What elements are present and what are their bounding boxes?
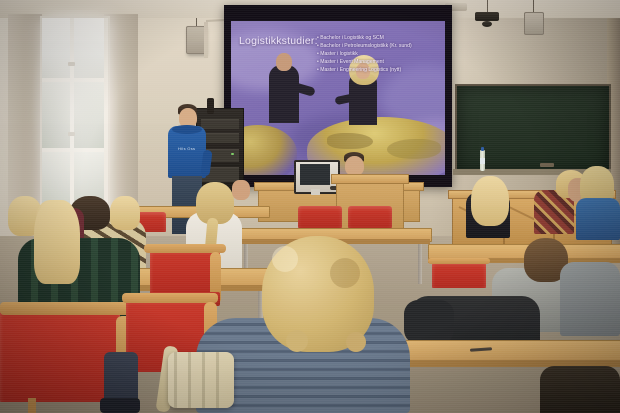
- lecture-room-photo: Logistikkstudier: • Bachelor i Logistikk…: [0, 0, 620, 413]
- student-far-right-body: [576, 198, 620, 240]
- window-pane: [42, 82, 70, 148]
- wall-conduit: [204, 22, 208, 58]
- hair-curl: [286, 330, 308, 352]
- chalkboard: [455, 84, 611, 174]
- slide-bullet: • Master i logistikk: [317, 50, 445, 58]
- chair-leg: [28, 398, 36, 413]
- chair-frame: [428, 258, 490, 264]
- seated-speaker-head: [345, 156, 364, 176]
- slide-bullet: • Master i Engineering Logistics (nytt): [317, 66, 445, 74]
- window-mullion: [70, 18, 74, 220]
- slide-bullet: • Master i Event Management: [317, 58, 445, 66]
- hair-shadow: [330, 258, 360, 288]
- hair-highlight: [272, 246, 298, 272]
- chalkboard-eraser: [540, 163, 554, 167]
- slide-bullet-list: • Bachelor i Logistikk og SCM • Bachelor…: [317, 34, 445, 74]
- student-right-dark-arm: [404, 300, 454, 344]
- map-landmass: [387, 139, 441, 159]
- slide-bullet: • Bachelor i Logistikk og SCM: [317, 34, 445, 42]
- chair[interactable]: [0, 310, 120, 402]
- desk-leg: [418, 244, 422, 284]
- rack-bottle-icon: [207, 98, 214, 114]
- slide-bullet: • Bachelor i Petroleumslogistikk (Kr. su…: [317, 42, 445, 50]
- window-mullion: [42, 148, 104, 152]
- bag: [168, 352, 234, 408]
- slide-title: Logistikkstudier:: [239, 35, 318, 47]
- window-mullion: [42, 78, 104, 82]
- window-pane: [42, 18, 70, 78]
- wall-speaker-icon: [186, 26, 206, 54]
- student-head: [110, 196, 140, 230]
- bottle-label: [480, 158, 485, 164]
- window-pane: [74, 82, 104, 148]
- student-front-left-hair: [34, 200, 80, 284]
- window-latch[interactable]: [68, 62, 75, 66]
- hoodie-logo-text: Hils Oss: [178, 146, 195, 151]
- projected-slide: Logistikkstudier: • Bachelor i Logistikk…: [231, 21, 445, 175]
- hair-curl: [346, 332, 366, 352]
- ceiling-speaker-icon: [524, 12, 544, 35]
- student-foreground-right: [540, 366, 620, 413]
- projector-lens-icon: [482, 21, 492, 27]
- projector-icon: [475, 12, 499, 21]
- presenter-hood: [172, 125, 202, 134]
- student-shoe: [100, 398, 140, 413]
- bottle-cap: [481, 147, 484, 151]
- curtain-left: [8, 14, 42, 226]
- chair[interactable]: [298, 206, 342, 228]
- window-pane: [74, 18, 104, 78]
- window-latch[interactable]: [68, 132, 75, 136]
- chair[interactable]: [432, 262, 486, 288]
- window: [40, 16, 110, 226]
- chair[interactable]: [348, 206, 392, 228]
- projector-mount-wire: [487, 0, 488, 12]
- slide-person-left-head: [276, 53, 292, 71]
- chair-frame: [122, 293, 218, 303]
- student-right-blonde-hair: [471, 176, 509, 226]
- student-braid-head: [232, 180, 250, 200]
- student-right-extra-body: [560, 262, 620, 336]
- monitor-stand: [311, 189, 320, 195]
- slide-person-left-body: [269, 65, 299, 123]
- lectern-top: [331, 174, 409, 184]
- map-landmass: [327, 133, 373, 149]
- chair-frame: [0, 302, 136, 315]
- speaker-hang-wire: [533, 0, 534, 12]
- monitor-screen: [300, 164, 330, 185]
